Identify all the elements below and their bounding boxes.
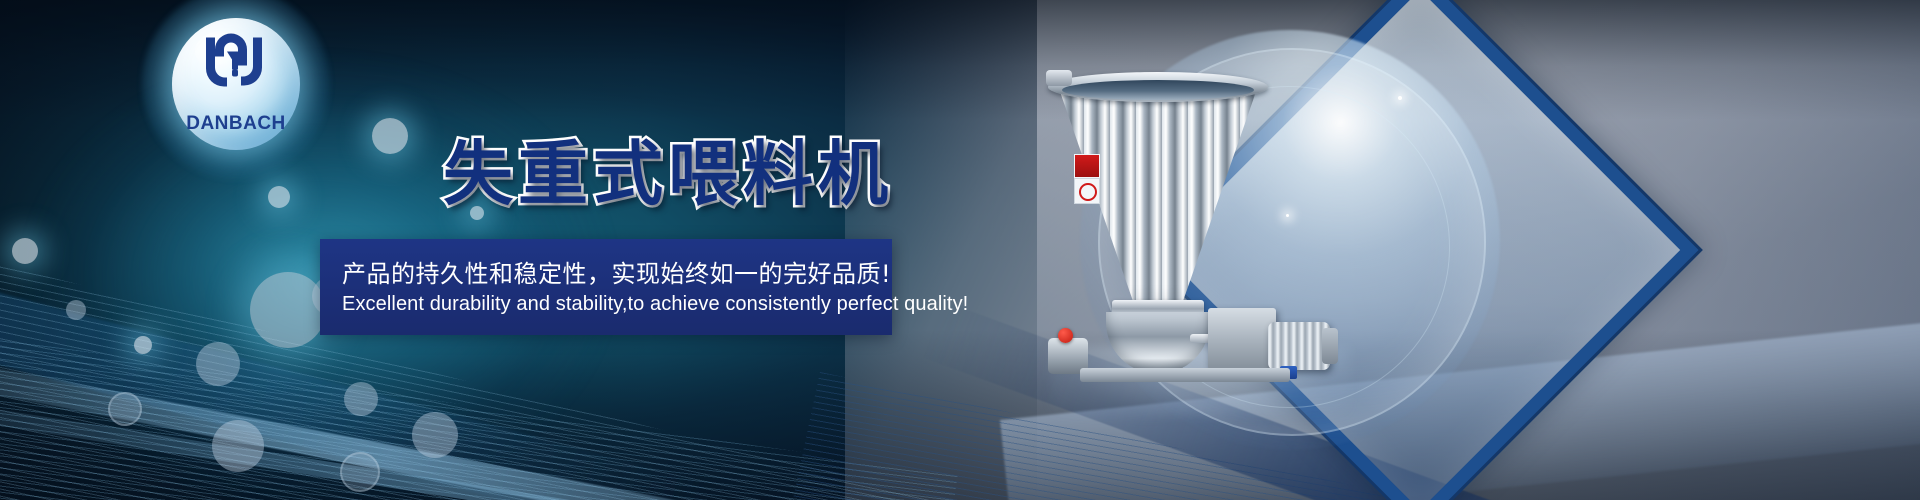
tagline-english: Excellent durability and stability,to ac… [342,293,968,316]
brand-logo[interactable]: DANBACH [172,18,300,150]
support-base [1080,368,1290,382]
decor-bokeh-circle [344,382,378,416]
hopper-clamp-latch [1046,70,1072,86]
hopper-opening [1062,80,1254,100]
decor-bokeh-circle [12,238,38,264]
decor-bokeh-circle [412,412,458,458]
page-title: 失重式喂料机 [443,118,893,219]
decor-bokeh-circle [196,342,240,386]
decor-bokeh-circle [212,420,264,472]
logo-wordmark: DANBACH [186,113,286,135]
decor-bokeh-circle [268,186,290,208]
red-emergency-knob [1058,328,1073,343]
decor-bokeh-circle [134,336,152,354]
motor-end-cap [1322,328,1338,364]
red-warning-label [1074,154,1100,178]
electric-motor [1268,322,1330,370]
danbach-monogram-sphere-icon [197,31,275,94]
prohibition-warning-label [1074,178,1100,204]
decor-bokeh-circle [340,452,380,492]
decor-bokeh-circle [250,272,326,348]
gearbox [1208,308,1276,370]
tagline-chinese: 产品的持久性和稳定性，实现始终如一的完好品质! [342,254,891,289]
loss-in-weight-feeder-machine [1040,50,1330,360]
decor-bokeh-circle [108,392,142,426]
decor-bokeh-circle [66,300,86,320]
product-banner: DANBACH 失重式喂料机 产品的持久性和稳定性，实现始终如一的完好品质! E… [0,0,1920,500]
decor-bokeh-circle [372,118,408,154]
tagline-box: 产品的持久性和稳定性，实现始终如一的完好品质! Excellent durabi… [320,239,892,335]
sparkle-icon [1398,96,1402,100]
